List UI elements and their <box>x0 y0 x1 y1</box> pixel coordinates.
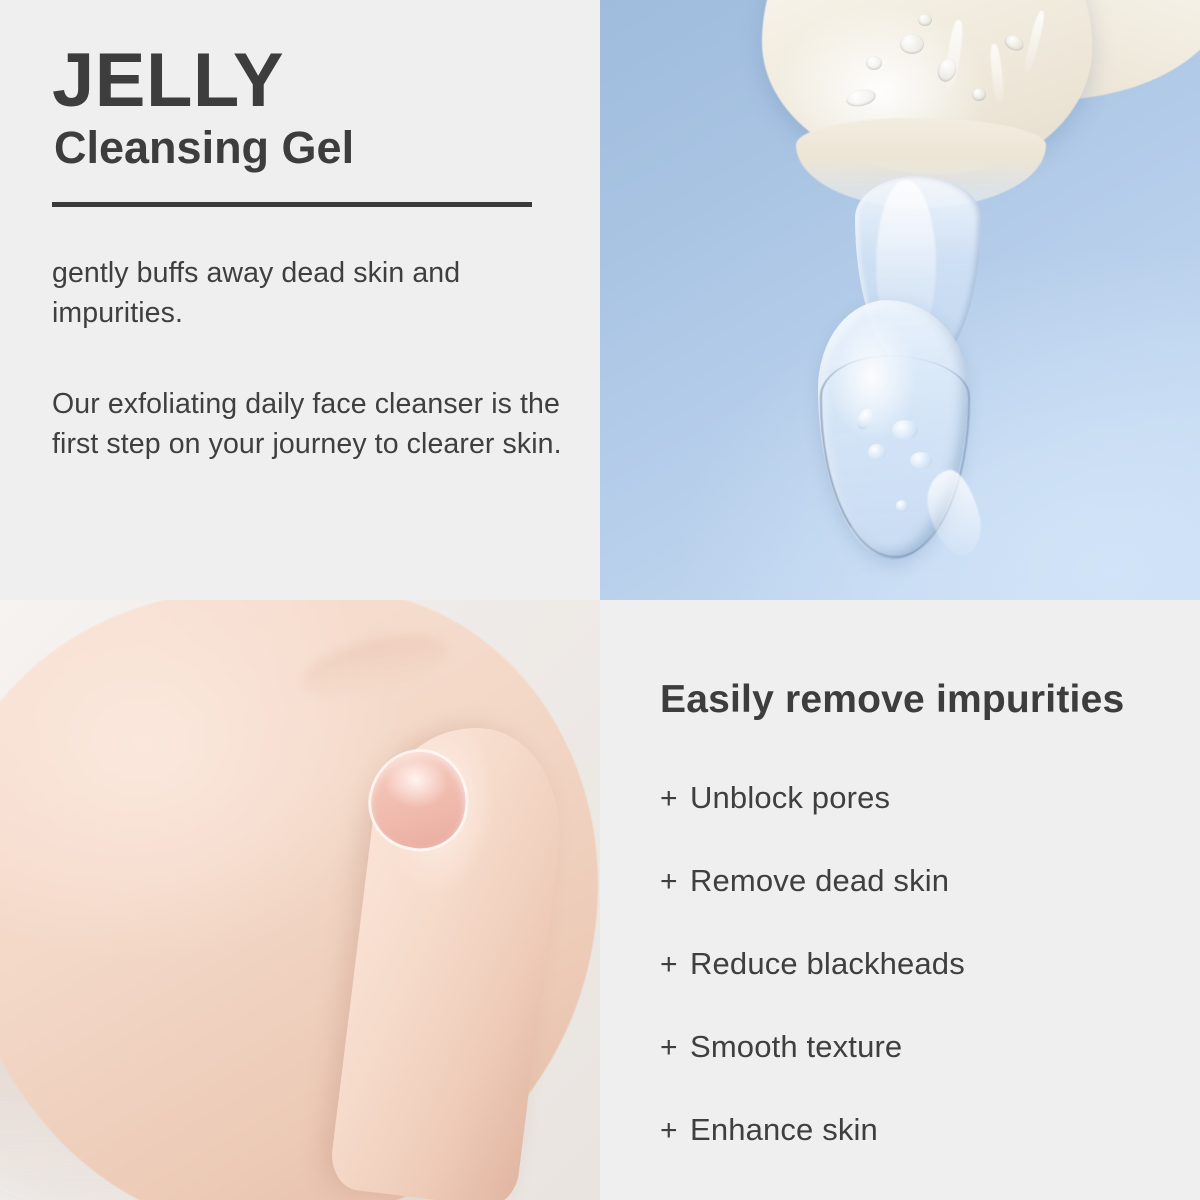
product-poster: JELLY Cleansing Gel gently buffs away de… <box>0 0 1200 1200</box>
benefits-block: Easily remove impurities + Unblock pores… <box>660 678 1176 1148</box>
gel-drip-image <box>600 0 1200 600</box>
gel-bubble <box>972 88 986 101</box>
intro-copy-panel: JELLY Cleansing Gel gently buffs away de… <box>0 0 600 600</box>
teardrop-bubble <box>892 420 918 440</box>
benefit-item: + Enhance skin <box>660 1112 1176 1148</box>
gel-bubble <box>900 34 924 54</box>
benefit-label: Unblock pores <box>690 780 890 816</box>
plus-icon: + <box>660 782 690 816</box>
intro-paragraph-2: Our exfoliating daily face cleanser is t… <box>52 384 572 465</box>
product-title-main: JELLY <box>52 44 572 118</box>
product-title-sub: Cleansing Gel <box>54 124 572 171</box>
benefit-item: + Reduce blackheads <box>660 946 1176 982</box>
benefit-label: Reduce blackheads <box>690 946 965 982</box>
benefit-label: Remove dead skin <box>690 863 949 899</box>
benefits-heading: Easily remove impurities <box>660 678 1176 722</box>
title-divider <box>52 202 532 207</box>
copy-block: JELLY Cleansing Gel gently buffs away de… <box>52 44 572 465</box>
benefit-item: + Remove dead skin <box>660 863 1176 899</box>
benefits-list: + Unblock pores + Remove dead skin + Red… <box>660 780 1176 1148</box>
intro-paragraph-1: gently buffs away dead skin and impuriti… <box>52 253 572 334</box>
gel-bubble <box>866 56 882 70</box>
plus-icon: + <box>660 865 690 899</box>
plus-icon: + <box>660 1114 690 1148</box>
hand-swatch-image <box>0 600 600 1200</box>
plus-icon: + <box>660 1031 690 1065</box>
teardrop-bubble <box>868 444 886 460</box>
benefit-item: + Unblock pores <box>660 780 1176 816</box>
benefit-label: Smooth texture <box>690 1029 902 1065</box>
benefit-label: Enhance skin <box>690 1112 878 1148</box>
benefits-panel: Easily remove impurities + Unblock pores… <box>600 600 1200 1200</box>
teardrop-bubble <box>910 452 932 469</box>
plus-icon: + <box>660 948 690 982</box>
gel-bubble <box>918 14 932 26</box>
benefit-item: + Smooth texture <box>660 1029 1176 1065</box>
teardrop-bubble <box>896 500 908 512</box>
